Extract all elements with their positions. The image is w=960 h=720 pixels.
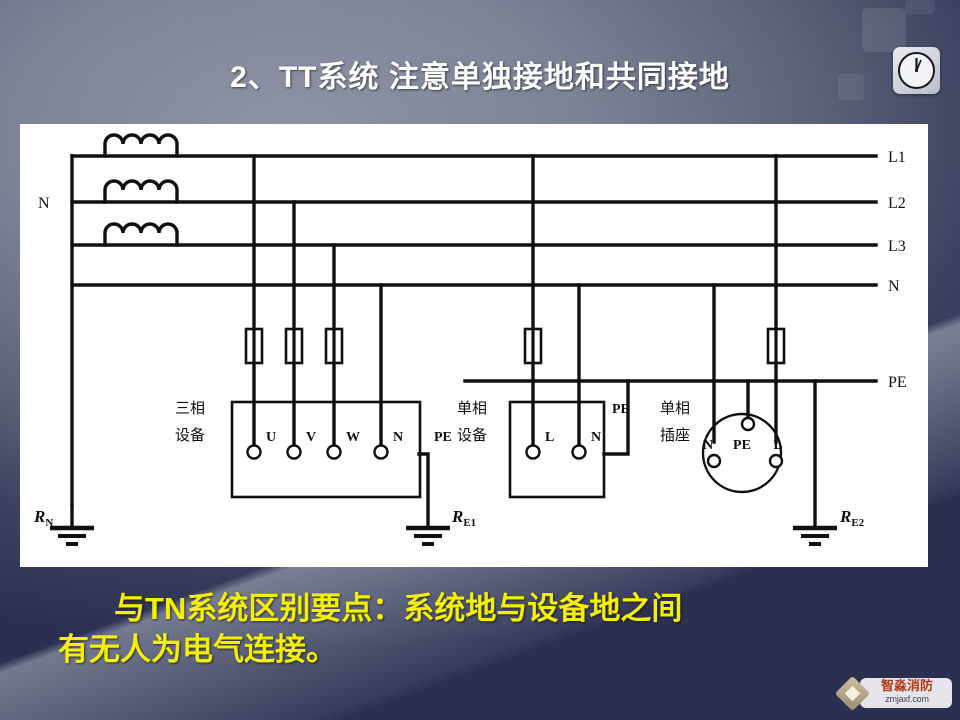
earth-re2 <box>793 528 837 544</box>
source-label-n: N <box>38 195 50 212</box>
caption-line-1: 与TN系统区别要点：系统地与设备地之间 <box>58 588 908 629</box>
terminal-u: U <box>266 430 276 445</box>
socket-label-line2: 插座 <box>660 427 690 444</box>
terminal-n-1ph: N <box>591 430 601 445</box>
bus-label-l3: L3 <box>888 238 906 255</box>
winding-2 <box>105 181 177 202</box>
diagram-panel: L1 L2 L3 N PE N 三相 设备 U V W N PE 单相 设备 L… <box>20 124 928 567</box>
tt-system-schematic: L1 L2 L3 N PE N 三相 设备 U V W N PE 单相 设备 L… <box>20 124 928 567</box>
pe-label-1ph: PE <box>612 402 630 417</box>
terminal-w: W <box>346 430 360 445</box>
single-phase-terminals <box>527 446 586 459</box>
bus-label-n: N <box>888 278 900 295</box>
terminal-l-1ph: L <box>545 430 554 445</box>
earth-label-re1: RE1 <box>451 507 476 529</box>
bus-label-l1: L1 <box>888 149 906 166</box>
terminal-n-3ph: N <box>393 430 403 445</box>
winding-1 <box>105 135 177 156</box>
decor-square-large <box>862 8 906 52</box>
earth-label-re2: RE2 <box>839 507 865 529</box>
page-title: 2、TT系统 注意单独接地和共同接地 <box>0 52 960 96</box>
decor-square-tiny <box>905 0 935 14</box>
earth-re1 <box>406 528 450 544</box>
three-phase-label-line2: 设备 <box>175 427 205 444</box>
socket-terminal-l: L <box>773 438 782 453</box>
earth-label-rn: RN <box>33 507 53 529</box>
pe-label-3ph: PE <box>434 430 452 445</box>
watermark-url: zmjaxf.com <box>863 694 951 705</box>
three-phase-label-line1: 三相 <box>175 400 205 417</box>
watermark: 智淼消防 zmjaxf.com <box>838 678 952 712</box>
three-phase-terminals <box>248 446 388 459</box>
bus-label-l2: L2 <box>888 195 906 212</box>
single-phase-label-line2: 设备 <box>457 427 487 444</box>
slide-caption: 与TN系统区别要点：系统地与设备地之间 有无人为电气连接。 <box>58 588 908 670</box>
socket-terminal-n: N <box>703 438 713 453</box>
slide: 2、TT系统 注意单独接地和共同接地 <box>0 0 960 720</box>
watermark-brand: 智淼消防 <box>865 679 949 693</box>
terminal-v: V <box>306 430 316 445</box>
earth-rn <box>50 504 94 544</box>
caption-line-2: 有无人为电气连接。 <box>58 629 908 670</box>
single-phase-pe-wire <box>604 381 628 454</box>
socket-label-line1: 单相 <box>660 400 690 417</box>
bus-label-pe: PE <box>888 374 907 391</box>
socket-terminal-pe: PE <box>733 438 751 453</box>
watermark-logo-inner <box>845 686 861 702</box>
single-phase-label-line1: 单相 <box>457 400 487 417</box>
single-phase-equipment-box <box>510 402 604 497</box>
winding-3 <box>105 224 177 245</box>
